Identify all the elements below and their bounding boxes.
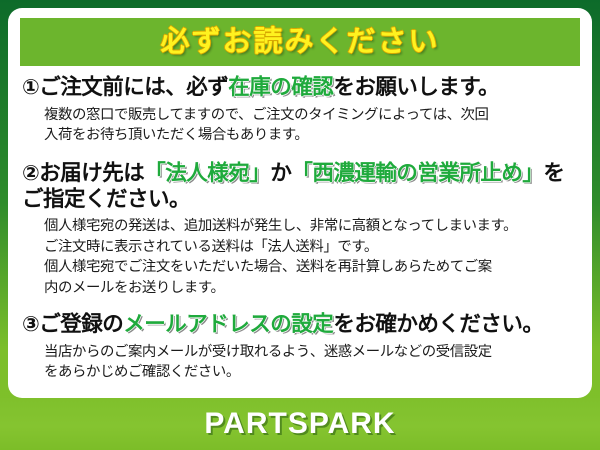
notice-item-2-heading-highlight-1: 「法人様宛」 xyxy=(144,161,270,185)
notice-item-2-body: 個人様宅宛の発送は、追加送料が発生し、非常に高額となってしまいます。 ご注文時に… xyxy=(44,216,582,298)
notice-item-3-body: 当店からのご案内メールが受け取れるよう、迷惑メールなどの受信設定 をあらかじめご… xyxy=(44,342,582,383)
notice-item-3-number: ③ xyxy=(22,313,39,336)
notice-item-2-body-line-3: 個人様宅宛でご注文をいただいた場合、送料を再計算しあらためてご案 xyxy=(44,257,582,277)
notice-item-3-heading: ③ご登録のメールアドレスの設定をお確かめください。 xyxy=(22,311,582,338)
notice-item-3-heading-highlight: メールアドレスの設定 xyxy=(123,312,333,336)
notice-item-3: ③ご登録のメールアドレスの設定をお確かめください。 当店からのご案内メールが受け… xyxy=(22,311,582,383)
notice-list: ①ご注文前には、必ず在庫の確認をお願いします。 複数の窓口で販売してますので、ご… xyxy=(8,72,592,385)
notice-item-3-body-line-1: 当店からのご案内メールが受け取れるよう、迷惑メールなどの受信設定 xyxy=(44,342,582,362)
notice-item-2-heading-part-3: か xyxy=(270,161,291,185)
notice-item-1-body: 複数の窓口で販売してますので、ご注文のタイミングによっては、次回 入荷をお待ち頂… xyxy=(44,105,582,146)
notice-card: 必ずお読みください ①ご注文前には、必ず在庫の確認をお願いします。 複数の窓口で… xyxy=(8,8,592,398)
notice-item-1-heading: ①ご注文前には、必ず在庫の確認をお願いします。 xyxy=(22,74,582,101)
notice-item-1: ①ご注文前には、必ず在庫の確認をお願いします。 複数の窓口で販売してますので、ご… xyxy=(22,74,582,146)
notice-item-2-heading: ②お届け先は「法人様宛」か「西濃運輸の営業所止め」をご指定ください。 xyxy=(22,160,582,213)
notice-item-1-heading-part-1: ご注文前には、必ず xyxy=(39,75,228,99)
notice-item-1-heading-part-3: をお願いします。 xyxy=(333,75,499,99)
notice-item-2-heading-highlight-2: 「西濃運輸の営業所止め」 xyxy=(291,161,543,185)
notice-item-1-number: ① xyxy=(22,76,39,99)
brand-logo: PARTSPARK xyxy=(204,409,395,439)
notice-item-2-body-line-2: ご注文時に表示されている送料は「法人送料」です。 xyxy=(44,237,582,257)
header-band: 必ずお読みください xyxy=(20,18,580,66)
notice-item-1-body-line-1: 複数の窓口で販売してますので、ご注文のタイミングによっては、次回 xyxy=(44,105,582,125)
notice-item-2-body-line-1: 個人様宅宛の発送は、追加送料が発生し、非常に高額となってしまいます。 xyxy=(44,216,582,236)
notice-item-2-number: ② xyxy=(22,162,39,185)
notice-item-1-body-line-2: 入荷をお待ち頂いただく場合もあります。 xyxy=(44,125,582,145)
notice-item-3-heading-part-3: をお確かめください。 xyxy=(333,312,543,336)
notice-item-1-heading-highlight: 在庫の確認 xyxy=(228,75,333,99)
notice-item-2-heading-part-1: お届け先は xyxy=(39,161,144,185)
notice-item-2-body-line-4: 内のメールをお送りします。 xyxy=(44,278,582,298)
page-title: 必ずお読みください xyxy=(160,28,439,57)
notice-banner: 必ずお読みください ①ご注文前には、必ず在庫の確認をお願いします。 複数の窓口で… xyxy=(0,0,600,450)
notice-item-3-body-line-2: をあらかじめご確認ください。 xyxy=(44,362,582,382)
footer-bar: PARTSPARK xyxy=(0,398,600,450)
notice-item-3-heading-part-1: ご登録の xyxy=(39,312,123,336)
notice-item-2: ②お届け先は「法人様宛」か「西濃運輸の営業所止め」をご指定ください。 個人様宅宛… xyxy=(22,160,582,299)
